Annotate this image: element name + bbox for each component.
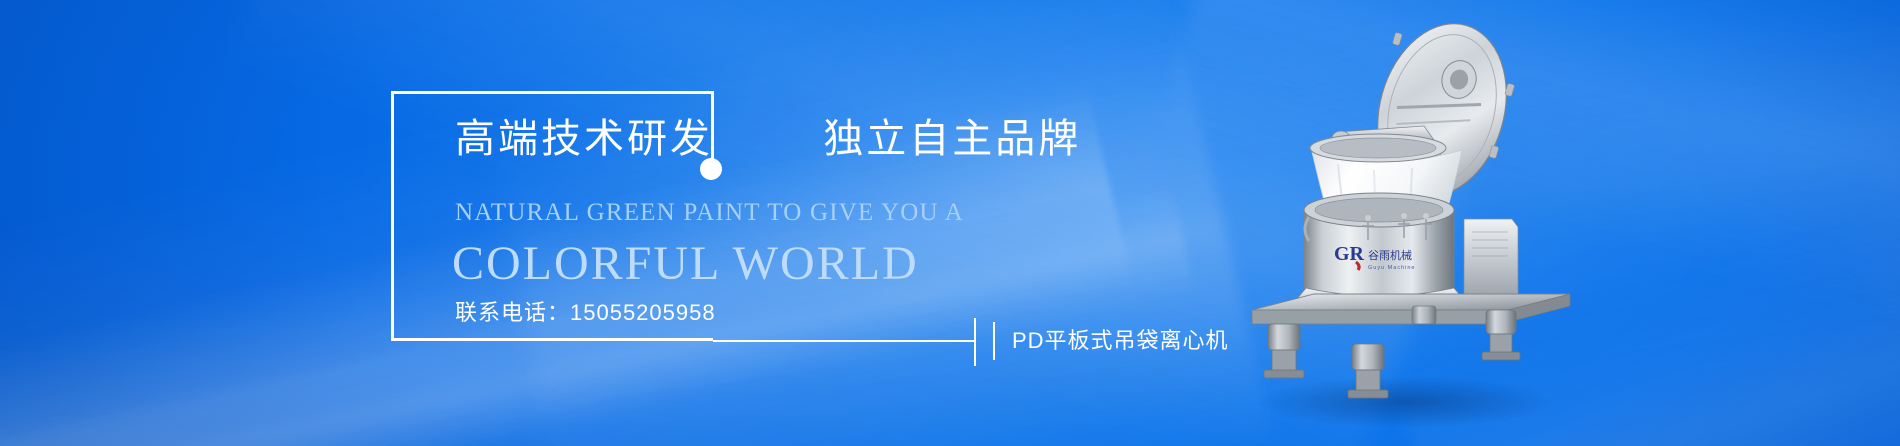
leader-line-vertical	[974, 318, 976, 366]
promo-banner: 高端技术研发 独立自主品牌 NATURAL GREEN PAINT TO GIV…	[0, 0, 1900, 446]
tagline-english: COLORFUL WORLD	[452, 240, 919, 288]
centrifuge-machine-image: GR 谷雨机械 Guyu Machine	[1246, 14, 1586, 434]
machine-logo-mark: GR	[1334, 243, 1365, 265]
leader-line-tick	[993, 322, 995, 360]
leader-line-icon	[713, 340, 975, 342]
machine-logo-cn: 谷雨机械	[1368, 248, 1412, 262]
bracket-frame-top-rule	[391, 91, 713, 94]
contact-phone[interactable]: 联系电话：15055205958	[455, 302, 716, 324]
product-label: PD平板式吊袋离心机	[1012, 330, 1229, 352]
page-title: 高端技术研发 独立自主品牌	[455, 119, 1081, 159]
machine-logo-en: Guyu Machine	[1368, 265, 1415, 271]
headline-right: 独立自主品牌	[823, 117, 1081, 161]
headline-left: 高端技术研发	[455, 117, 713, 161]
subtitle-english: NATURAL GREEN PAINT TO GIVE YOU A	[455, 200, 964, 225]
bullet-dot-icon	[700, 158, 722, 180]
